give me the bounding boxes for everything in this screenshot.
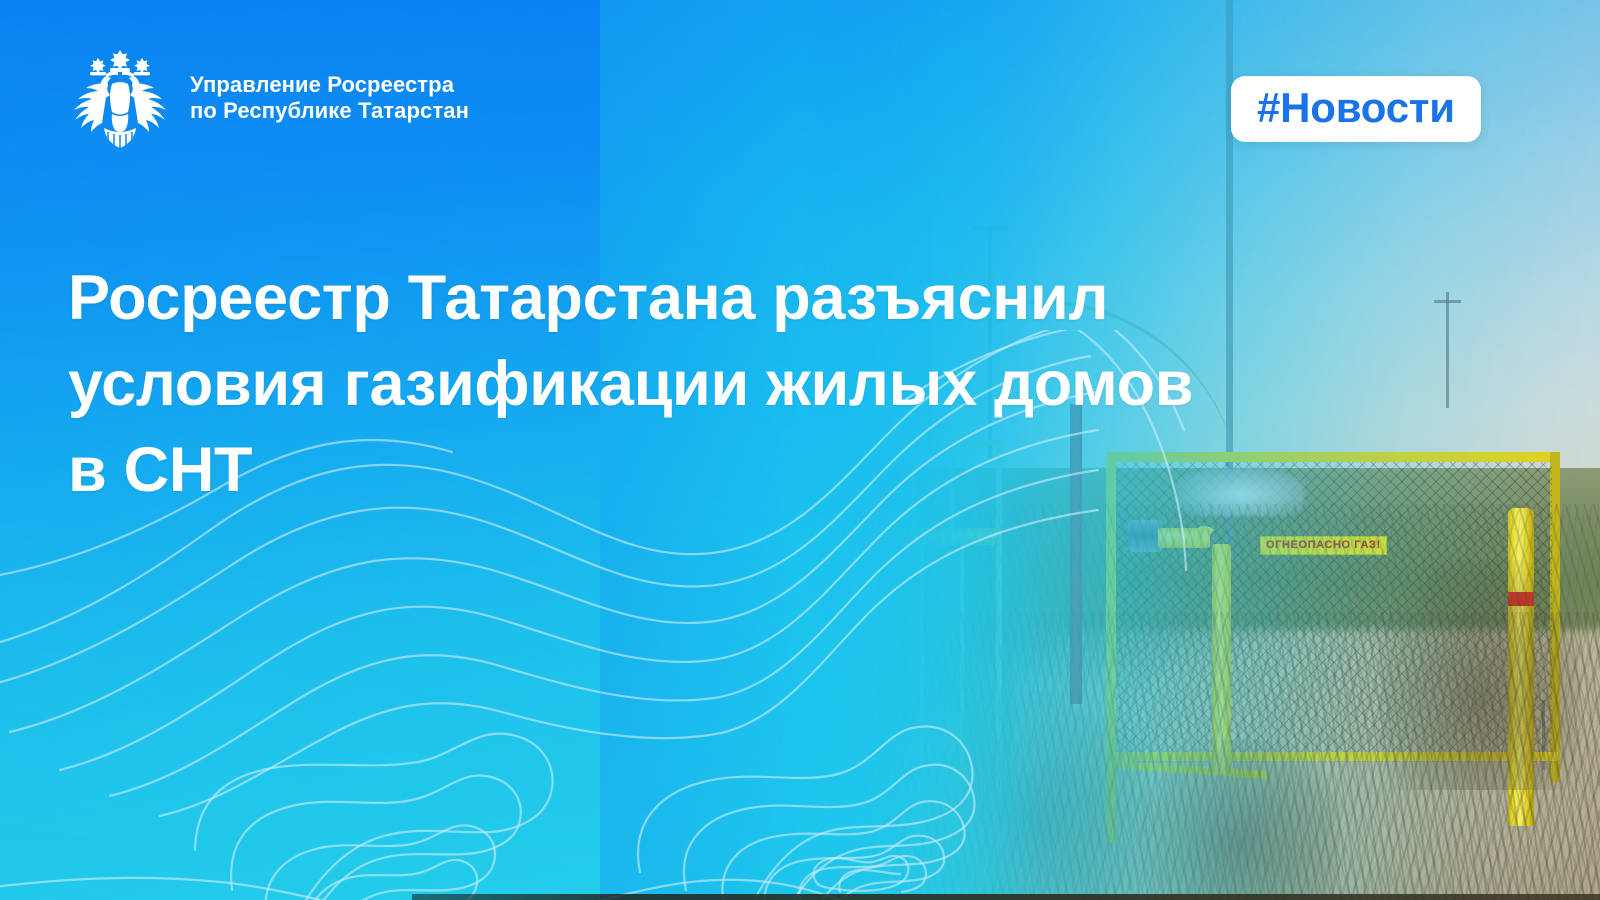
organization-name: Управление Росреестра по Республике Тата… <box>190 72 469 124</box>
headline-line-2: условия газификации жилых домов <box>68 341 1308 427</box>
bottom-film-strip <box>412 894 1600 900</box>
page-title: Росреестр Татарстана разъяснил условия г… <box>68 255 1308 513</box>
news-banner: ОГНЕОПАСНО ГАЗ ОГНЕОПАСНО ГАЗ! <box>0 0 1600 900</box>
brand-logo[interactable]: Управление Росреестра по Республике Тата… <box>68 44 469 152</box>
news-hashtag-badge[interactable]: #Новости <box>1231 76 1481 142</box>
headline-line-3: в СНТ <box>68 427 1308 513</box>
double-headed-eagle-emblem <box>68 44 172 152</box>
headline-line-1: Росреестр Татарстана разъяснил <box>68 255 1308 341</box>
